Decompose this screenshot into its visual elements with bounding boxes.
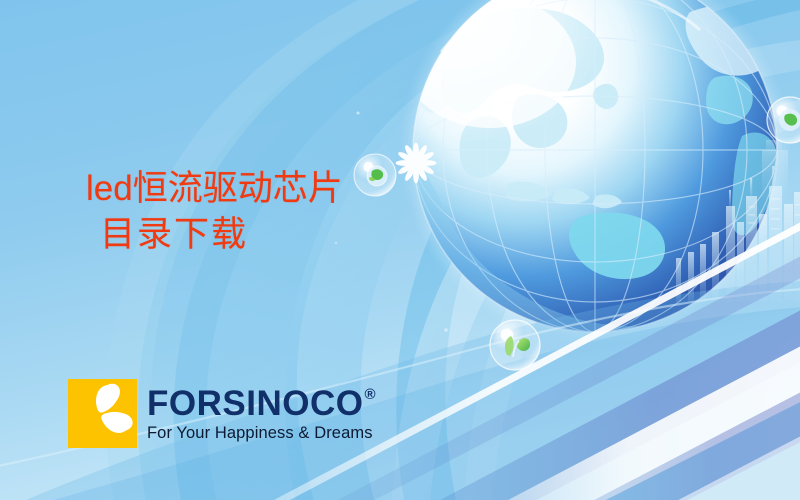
registered-trademark-icon: ® [364, 387, 376, 402]
brand-name: FORSINOCO [147, 386, 363, 421]
company-logo[interactable]: FORSINOCO ® For Your Happiness & Dreams [68, 379, 376, 448]
brand-name-row: FORSINOCO ® [147, 386, 376, 421]
brand-tagline: For Your Happiness & Dreams [147, 425, 376, 442]
four-petal-pinwheel-icon [68, 379, 137, 448]
headline-text-block: led恒流驱动芯片 目录下载 [86, 166, 343, 257]
logo-text-group: FORSINOCO ® For Your Happiness & Dreams [147, 379, 376, 442]
headline-line-2: 目录下载 [86, 212, 343, 258]
marketing-banner: led恒流驱动芯片 目录下载 FORSINOCO ® Fo [0, 0, 800, 500]
headline-line-1: led恒流驱动芯片 [86, 166, 343, 212]
